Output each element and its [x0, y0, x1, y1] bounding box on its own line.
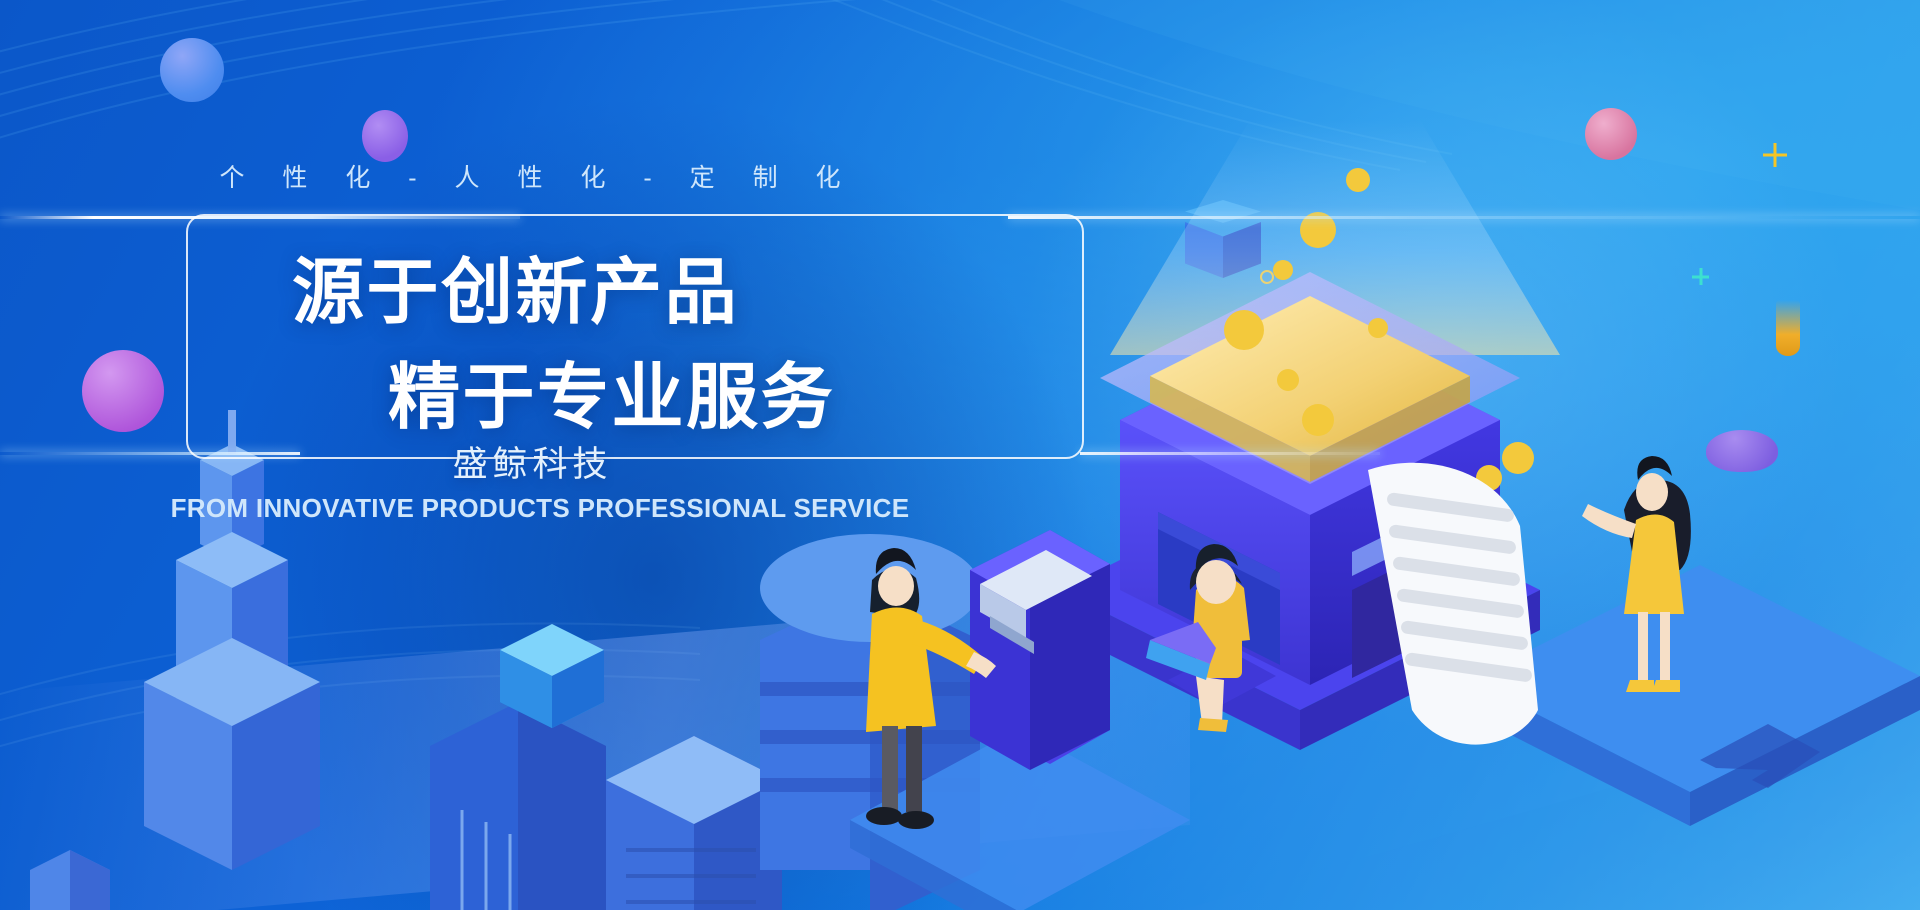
divider-top-right — [1008, 216, 1920, 219]
headline-line-2: 精于专业服务 — [388, 338, 835, 443]
divider-mid-right — [1080, 452, 1380, 455]
headline-line-1: 源于创新产品 — [292, 233, 739, 338]
kiosk-terminal — [970, 530, 1110, 770]
illustration-kiosk-scene — [820, 520, 1220, 910]
sphere-purple-small-icon — [362, 110, 408, 162]
brand-name: 盛鲸科技 — [0, 436, 1060, 487]
building-stepped — [606, 736, 782, 910]
sphere-blue-icon — [160, 38, 224, 102]
english-tagline: FROM INNOVATIVE PRODUCTS PROFESSIONAL SE… — [0, 493, 1080, 524]
building-small-front — [30, 850, 110, 910]
eyebrow-text: 个 性 化 - 人 性 化 - 定 制 化 — [0, 158, 1060, 194]
sphere-purple-large-icon — [82, 350, 164, 432]
hero-banner: 个 性 化 - 人 性 化 - 定 制 化 源于创新产品 精于专业服务 盛鲸科技… — [0, 0, 1920, 910]
building-cyan-cap — [430, 624, 606, 910]
